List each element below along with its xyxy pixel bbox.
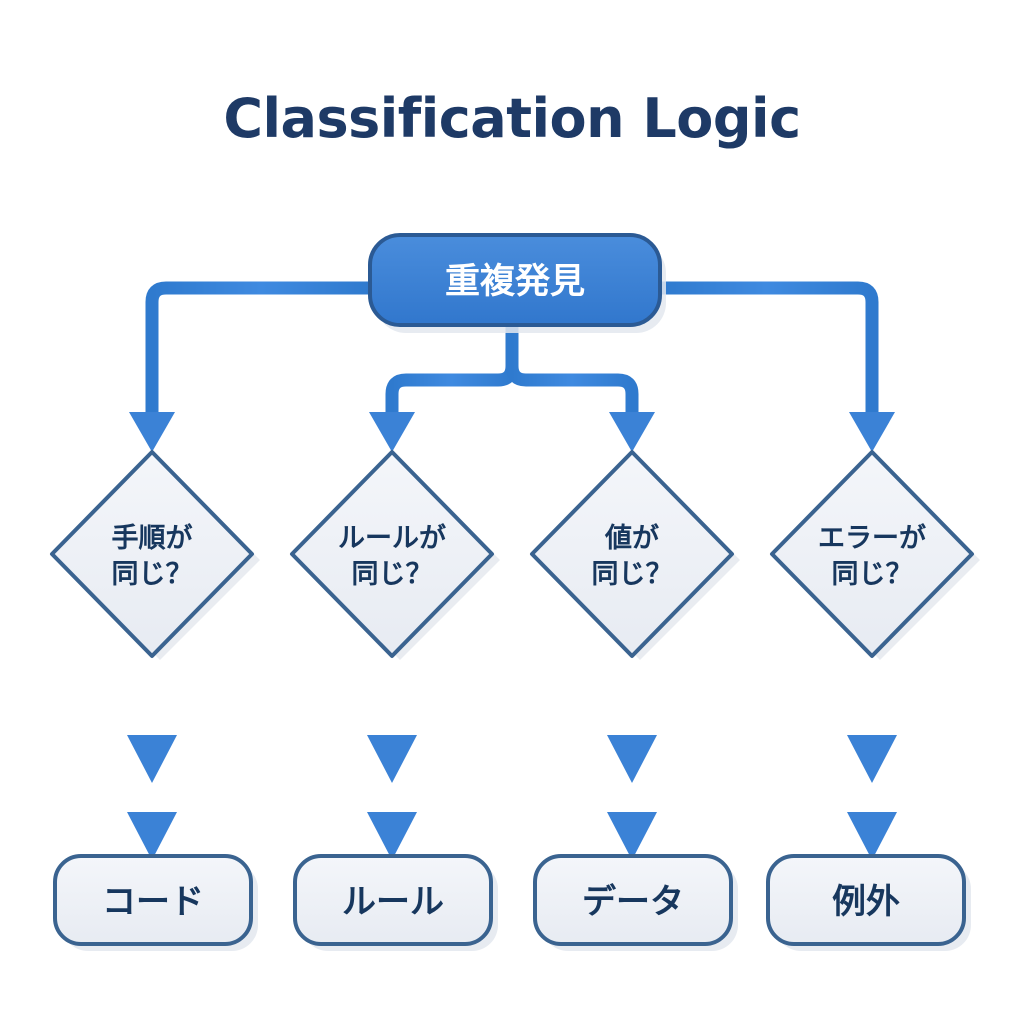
- arrowhead-into-rule-box: [367, 812, 417, 860]
- decision-error-line1: エラーが: [818, 522, 926, 554]
- node-terminal-rule[interactable]: ルール: [295, 856, 498, 951]
- arrowhead-into-exception: [847, 812, 897, 860]
- arrowhead-layer-decisions: [129, 412, 895, 452]
- arrowhead-into-error: [849, 412, 895, 452]
- decision-error-shape: [772, 452, 972, 656]
- node-root[interactable]: 重複発見: [370, 235, 666, 333]
- node-terminal-code[interactable]: コード: [55, 856, 258, 951]
- decision-procedure-line1: 手順が: [112, 522, 193, 554]
- arrowhead-into-rule: [369, 412, 415, 452]
- terminal-code-label: コード: [102, 882, 204, 922]
- edge-root-to-procedure: [152, 288, 370, 424]
- arrowhead-layer-terminals: [127, 812, 897, 860]
- node-decision-rule[interactable]: ルールが 同じ？: [292, 452, 500, 660]
- node-decision-value[interactable]: 値が 同じ？: [532, 452, 740, 660]
- decision-rule-line1: ルールが: [338, 522, 446, 554]
- arrowhead-into-value: [609, 412, 655, 452]
- arrowhead-midway-rule: [367, 735, 417, 783]
- page-title: Classification Logic: [223, 87, 800, 150]
- decision-error-line2: 同じ？: [832, 559, 913, 590]
- node-decision-procedure[interactable]: 手順が 同じ？: [52, 452, 260, 660]
- root-label: 重複発見: [445, 262, 585, 302]
- arrowhead-midway-exception: [847, 735, 897, 783]
- arrowhead-into-code: [127, 812, 177, 860]
- node-terminal-exception[interactable]: 例外: [768, 856, 971, 951]
- node-decision-error[interactable]: エラーが 同じ？: [772, 452, 980, 660]
- arrowhead-midway-data: [607, 735, 657, 783]
- decision-value-line1: 値が: [604, 522, 659, 554]
- arrowhead-into-procedure: [129, 412, 175, 452]
- edge-root-to-rule: [392, 325, 512, 424]
- decision-procedure-line2: 同じ？: [112, 559, 193, 590]
- arrowhead-into-data: [607, 812, 657, 860]
- arrowhead-midway-code: [127, 735, 177, 783]
- terminal-data-label: データ: [582, 882, 684, 922]
- decision-value-line2: 同じ？: [592, 559, 673, 590]
- decision-value-shape: [532, 452, 732, 656]
- edge-layer: [152, 288, 872, 858]
- arrowhead-layer-midway: [127, 735, 897, 783]
- diagram-canvas: Classification Logic: [0, 0, 1024, 1024]
- decision-rule-shape: [292, 452, 492, 656]
- edge-root-to-error: [660, 288, 872, 424]
- classification-logic-flowchart: Classification Logic: [0, 0, 1024, 1024]
- terminal-rule-label: ルール: [342, 882, 444, 922]
- node-terminal-data[interactable]: データ: [535, 856, 738, 951]
- terminal-exception-label: 例外: [832, 882, 900, 922]
- decision-rule-line2: 同じ？: [352, 559, 433, 590]
- decision-procedure-shape: [52, 452, 252, 656]
- edge-root-to-value: [512, 325, 632, 424]
